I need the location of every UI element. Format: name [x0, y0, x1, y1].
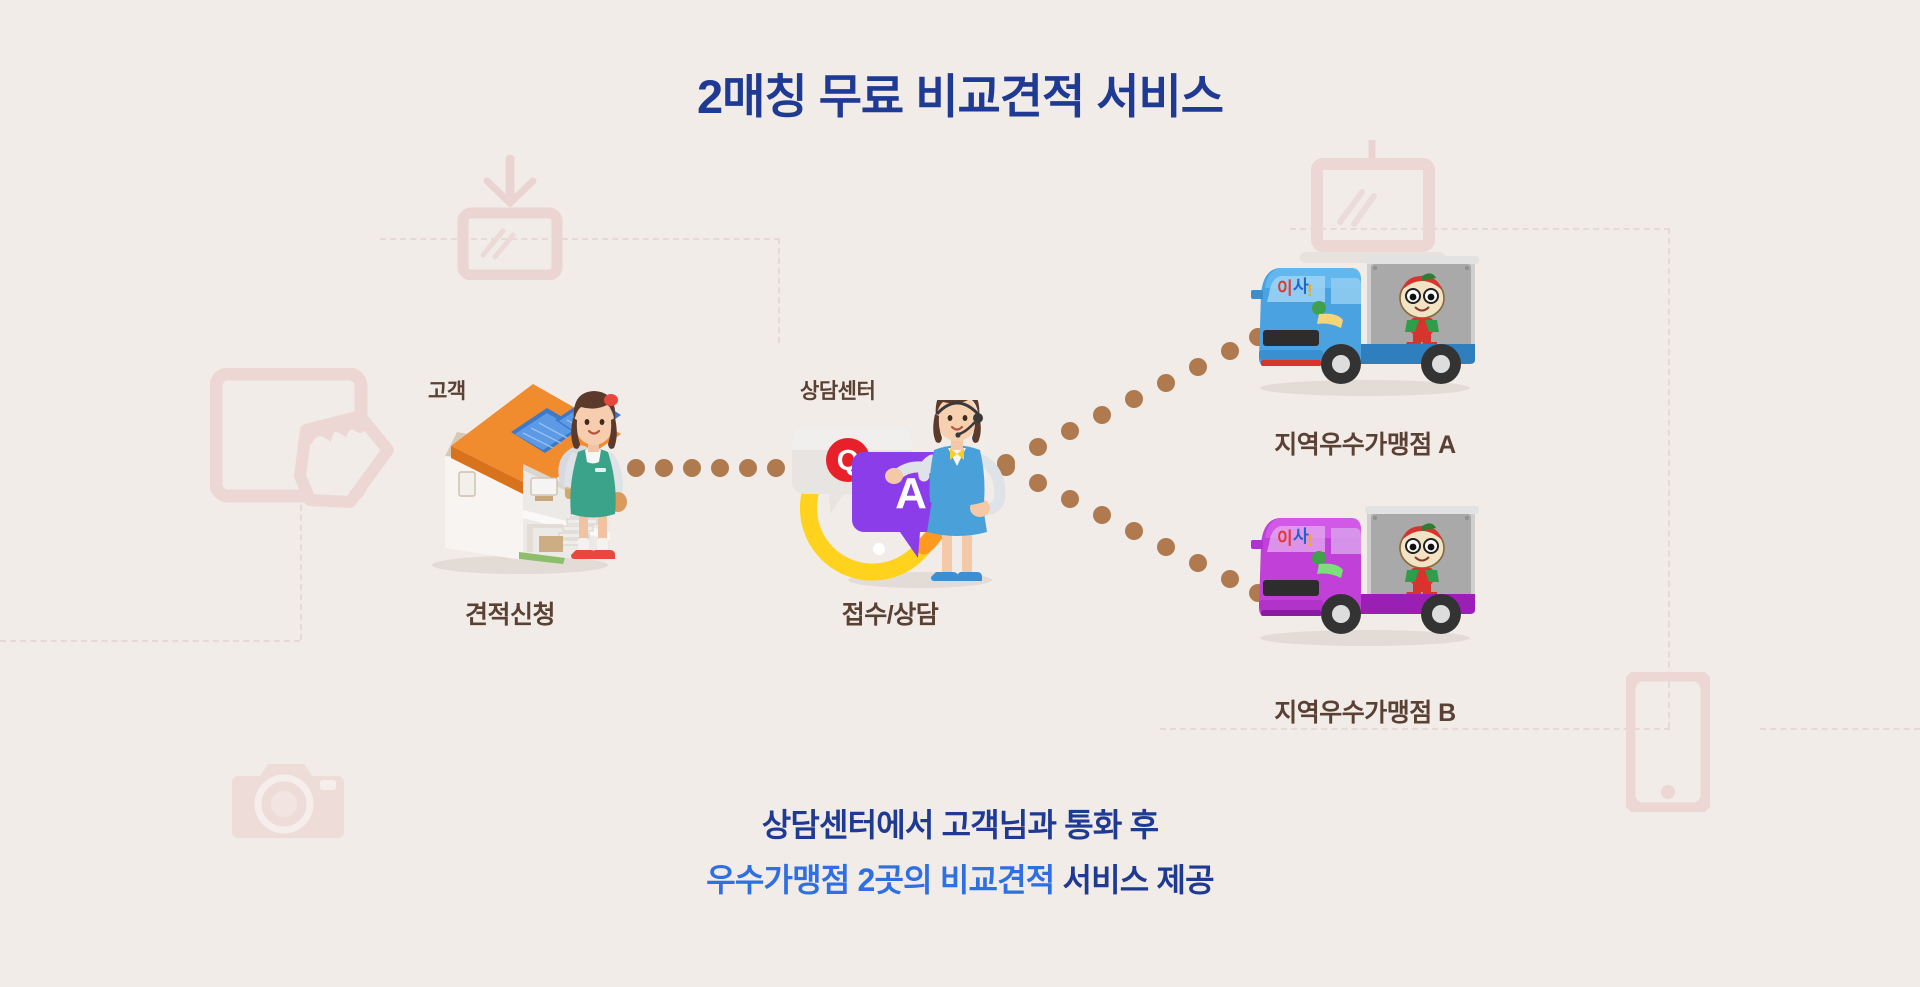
caption-highlight-1: 우수가맹점 2곳의 — [706, 862, 940, 898]
infographic-canvas: 2매칭 무료 비교견적 서비스 — [0, 0, 1920, 987]
caption-line-1: 상담센터에서 고객님과 통화 후 — [0, 800, 1920, 846]
dash-line-vert-left — [778, 238, 780, 343]
dash-line-top-right — [1290, 228, 1670, 230]
page-title: 2매칭 무료 비교견적 서비스 — [0, 58, 1920, 127]
dash-line-right-phone — [1760, 728, 1920, 730]
tv-icon — [455, 155, 565, 280]
svg-text:이: 이 — [1277, 529, 1293, 548]
dash-line-mid-left — [0, 640, 300, 642]
call-center-step-label: 접수/상담 — [780, 595, 1000, 631]
svg-text:!: ! — [1307, 531, 1313, 550]
customer-illustration — [415, 360, 635, 575]
call-center-illustration: Q A — [790, 400, 1040, 590]
caption-highlight-2: 비교견적 — [940, 862, 1055, 898]
svg-text:!: ! — [1307, 281, 1313, 300]
dash-line-vert-right — [1668, 228, 1670, 728]
caption-tail: 서비스 제공 — [1054, 862, 1213, 898]
caption-line-2: 우수가맹점 2곳의 비교견적 서비스 제공 — [0, 855, 1920, 901]
dash-line-top-left — [380, 238, 780, 240]
dash-line-left-tablet — [300, 455, 380, 457]
shop-a-label: 지역우수가맹점 A — [1175, 425, 1555, 461]
svg-text:이: 이 — [1277, 279, 1293, 298]
smartphone-icon — [1626, 672, 1710, 812]
tablet-hand-icon — [210, 368, 395, 540]
shop-a-truck: 이 사 ! — [1245, 232, 1485, 402]
shop-b-label: 지역우수가맹점 B — [1175, 693, 1555, 729]
shop-b-truck: 이 사 ! — [1245, 482, 1485, 652]
